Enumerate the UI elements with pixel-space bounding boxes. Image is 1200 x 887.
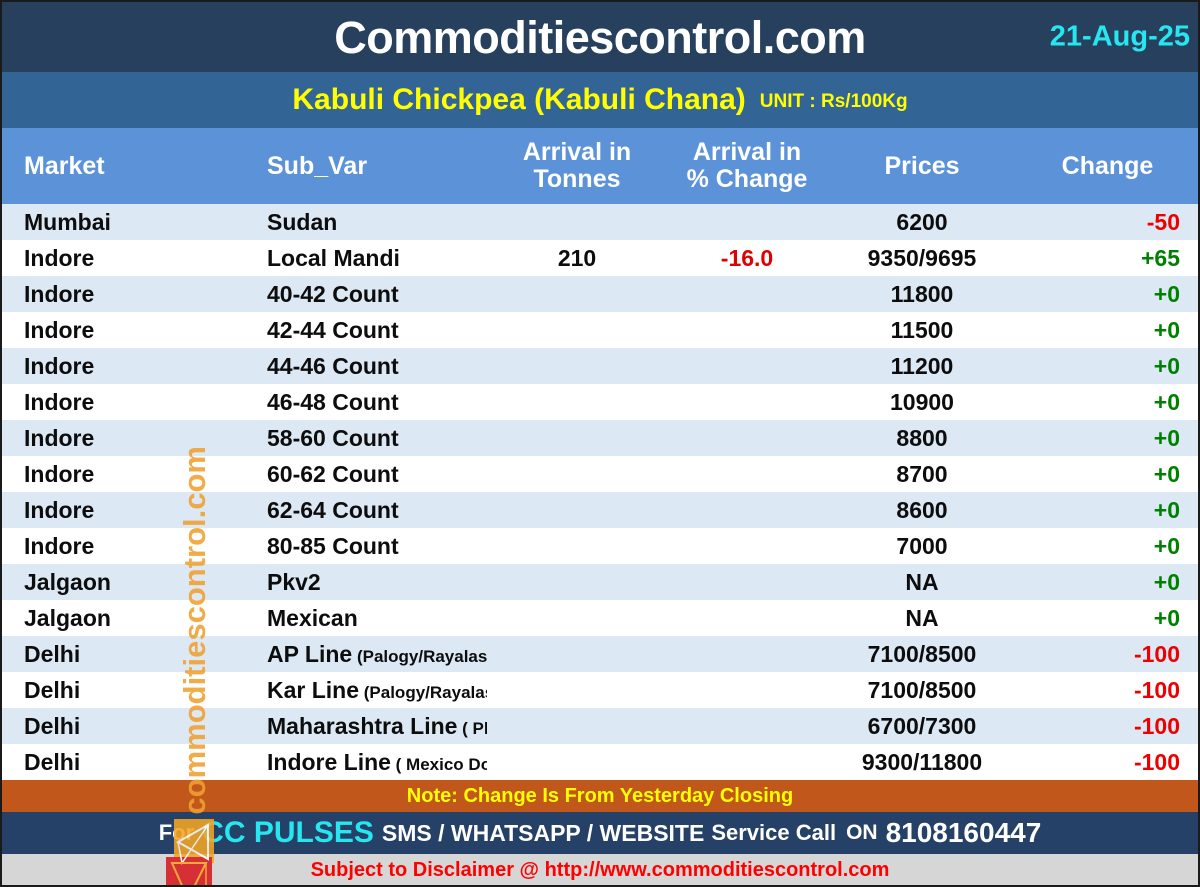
cell-change: -50 (1017, 204, 1198, 240)
cell-subvar-name: 58-60 Count (267, 425, 399, 451)
cell-arrival-pct (667, 708, 827, 744)
cell-subvar: 40-42 Count (257, 276, 487, 312)
cell-arrival-pct (667, 420, 827, 456)
cell-arrival-pct (667, 528, 827, 564)
cell-prices: 8600 (827, 492, 1017, 528)
site-title: Commoditiescontrol.com (334, 15, 866, 60)
cell-subvar-name: 44-46 Count (267, 353, 399, 379)
cell-subvar: Local Mandi (257, 240, 487, 276)
cell-change: -100 (1017, 636, 1198, 672)
cell-subvar: Indore Line ( Mexico Double Dollar ) (257, 744, 487, 780)
table-row: Indore80-85 Count7000+0 (2, 528, 1198, 564)
cell-market: Jalgaon (2, 600, 257, 636)
cell-change: -100 (1017, 744, 1198, 780)
table-row: JalgaonMexicanNA+0 (2, 600, 1198, 636)
cell-prices: NA (827, 564, 1017, 600)
cell-subvar-name: Local Mandi (267, 245, 400, 271)
cell-arrival-tonnes (487, 636, 667, 672)
cell-market: Indore (2, 528, 257, 564)
cell-subvar: Pkv2 (257, 564, 487, 600)
cell-subvar-name: 46-48 Count (267, 389, 399, 415)
cell-subvar-name: Mexican (267, 605, 358, 631)
cell-arrival-pct (667, 348, 827, 384)
cell-arrival-tonnes (487, 528, 667, 564)
title-bar: Commoditiescontrol.com 21-Aug-25 (2, 2, 1198, 72)
cell-arrival-pct (667, 636, 827, 672)
cell-subvar: 42-44 Count (257, 312, 487, 348)
col-header-arrival-line1: Arrival in (497, 139, 657, 166)
cell-subvar: Kar Line (Palogy/Rayalaseema/Cock2) (257, 672, 487, 708)
disclaimer-bar: Subject to Disclaimer @ http://www.commo… (2, 854, 1198, 886)
col-header-arrival-line2: Tonnes (497, 166, 657, 193)
cell-change: +0 (1017, 384, 1198, 420)
cell-subvar: 58-60 Count (257, 420, 487, 456)
cell-prices: 7100/8500 (827, 636, 1017, 672)
cell-market: Indore (2, 312, 257, 348)
report-page: Commoditiescontrol.com 21-Aug-25 Kabuli … (0, 0, 1200, 887)
cell-market: Indore (2, 240, 257, 276)
unit-label: UNIT : Rs/100Kg (760, 87, 908, 113)
cell-arrival-pct (667, 672, 827, 708)
cell-market: Jalgaon (2, 564, 257, 600)
cell-subvar-name: Kar Line (267, 677, 359, 703)
cell-arrival-tonnes (487, 744, 667, 780)
cell-arrival-tonnes (487, 276, 667, 312)
cell-subvar-note: ( Mexico Double Dollar ) (391, 755, 487, 774)
cell-market: Mumbai (2, 204, 257, 240)
table-row: DelhiIndore Line ( Mexico Double Dollar … (2, 744, 1198, 780)
cell-arrival-tonnes (487, 492, 667, 528)
cell-arrival-tonnes (487, 204, 667, 240)
cell-change: +0 (1017, 528, 1198, 564)
col-header-arrpct-line1: Arrival in (677, 139, 817, 166)
cell-subvar-name: Maharashtra Line (267, 713, 457, 739)
col-header-subvar: Sub_Var (257, 128, 487, 204)
note-bar: Note: Change Is From Yesterday Closing (2, 780, 1198, 812)
cell-subvar-note: (Palogy/Rayalaseema/Cock2) (352, 647, 487, 666)
cell-market: Delhi (2, 708, 257, 744)
cell-prices: 8800 (827, 420, 1017, 456)
price-table-wrap: Market Sub_Var Arrival in Tonnes Arrival… (2, 128, 1198, 780)
cell-arrival-pct (667, 312, 827, 348)
col-header-arrival-tonnes: Arrival in Tonnes (487, 128, 667, 204)
cell-arrival-tonnes (487, 420, 667, 456)
table-row: Indore46-48 Count10900+0 (2, 384, 1198, 420)
cell-arrival-tonnes (487, 564, 667, 600)
cell-prices: 9350/9695 (827, 240, 1017, 276)
cell-arrival-tonnes (487, 600, 667, 636)
cell-subvar-name: 42-44 Count (267, 317, 399, 343)
cell-arrival-tonnes (487, 672, 667, 708)
cell-change: +0 (1017, 492, 1198, 528)
contact-bar: For CC PULSES SMS / WHATSAPP / WEBSITE S… (2, 812, 1198, 854)
cell-subvar-name: Sudan (267, 209, 337, 235)
cell-prices: 10900 (827, 384, 1017, 420)
note-text: Note: Change Is From Yesterday Closing (407, 785, 793, 808)
table-body: MumbaiSudan6200-50IndoreLocal Mandi210-1… (2, 204, 1198, 780)
cell-subvar: 46-48 Count (257, 384, 487, 420)
cell-prices: 7100/8500 (827, 672, 1017, 708)
cell-subvar-name: 60-62 Count (267, 461, 399, 487)
disclaimer-text[interactable]: Subject to Disclaimer @ http://www.commo… (311, 859, 890, 882)
cell-arrival-pct (667, 564, 827, 600)
cell-change: +0 (1017, 600, 1198, 636)
price-table: Market Sub_Var Arrival in Tonnes Arrival… (2, 128, 1198, 780)
table-row: Indore58-60 Count8800+0 (2, 420, 1198, 456)
cell-arrival-tonnes (487, 348, 667, 384)
commodity-title: Kabuli Chickpea (Kabuli Chana) (292, 83, 745, 117)
cell-change: -100 (1017, 708, 1198, 744)
commodity-bar: Kabuli Chickpea (Kabuli Chana) UNIT : Rs… (2, 72, 1198, 128)
cell-arrival-tonnes (487, 384, 667, 420)
cell-arrival-tonnes (487, 312, 667, 348)
contact-channels: SMS / WHATSAPP / WEBSITE (382, 820, 704, 847)
table-row: DelhiMaharashtra Line ( Pkv2 )6700/7300-… (2, 708, 1198, 744)
cell-prices: 9300/11800 (827, 744, 1017, 780)
cell-market: Delhi (2, 672, 257, 708)
table-row: IndoreLocal Mandi210-16.09350/9695+65 (2, 240, 1198, 276)
cell-subvar: Maharashtra Line ( Pkv2 ) (257, 708, 487, 744)
cell-change: +65 (1017, 240, 1198, 276)
contact-service: Service Call (704, 820, 836, 846)
contact-on: ON (836, 821, 886, 845)
cell-prices: 7000 (827, 528, 1017, 564)
table-row: DelhiKar Line (Palogy/Rayalaseema/Cock2)… (2, 672, 1198, 708)
cell-prices: 11800 (827, 276, 1017, 312)
cell-change: +0 (1017, 312, 1198, 348)
cell-change: -100 (1017, 672, 1198, 708)
contact-phone[interactable]: 8108160447 (886, 817, 1042, 849)
col-header-prices: Prices (827, 128, 1017, 204)
cell-market: Delhi (2, 636, 257, 672)
cell-market: Indore (2, 384, 257, 420)
cell-arrival-tonnes: 210 (487, 240, 667, 276)
cell-subvar: Mexican (257, 600, 487, 636)
cell-market: Delhi (2, 744, 257, 780)
table-row: Indore44-46 Count11200+0 (2, 348, 1198, 384)
cell-arrival-pct (667, 456, 827, 492)
report-date: 21-Aug-25 (1050, 21, 1190, 54)
cell-change: +0 (1017, 564, 1198, 600)
cell-change: +0 (1017, 276, 1198, 312)
cell-arrival-tonnes (487, 708, 667, 744)
table-header-row: Market Sub_Var Arrival in Tonnes Arrival… (2, 128, 1198, 204)
col-header-change: Change (1017, 128, 1198, 204)
cell-subvar: 60-62 Count (257, 456, 487, 492)
cell-market: Indore (2, 456, 257, 492)
cell-subvar-note: ( Pkv2 ) (457, 719, 487, 738)
cell-market: Indore (2, 420, 257, 456)
table-head: Market Sub_Var Arrival in Tonnes Arrival… (2, 128, 1198, 204)
cell-arrival-pct: -16.0 (667, 240, 827, 276)
cell-change: +0 (1017, 348, 1198, 384)
cell-subvar-name: Pkv2 (267, 569, 321, 595)
cell-prices: 11500 (827, 312, 1017, 348)
cell-subvar-name: 62-64 Count (267, 497, 399, 523)
cell-prices: 6200 (827, 204, 1017, 240)
cell-subvar: AP Line (Palogy/Rayalaseema/Cock2) (257, 636, 487, 672)
cell-subvar: Sudan (257, 204, 487, 240)
cell-subvar-name: AP Line (267, 641, 352, 667)
cell-change: +0 (1017, 456, 1198, 492)
table-row: MumbaiSudan6200-50 (2, 204, 1198, 240)
cell-change: +0 (1017, 420, 1198, 456)
col-header-arrpct-line2: % Change (677, 166, 817, 193)
cell-subvar: 80-85 Count (257, 528, 487, 564)
cell-arrival-tonnes (487, 456, 667, 492)
contact-brand: CC PULSES (194, 816, 382, 850)
cell-arrival-pct (667, 276, 827, 312)
cell-arrival-pct (667, 384, 827, 420)
cell-subvar: 62-64 Count (257, 492, 487, 528)
cell-market: Indore (2, 348, 257, 384)
cell-subvar-name: 80-85 Count (267, 533, 399, 559)
contact-for: For (159, 820, 194, 846)
table-row: JalgaonPkv2NA+0 (2, 564, 1198, 600)
table-row: Indore40-42 Count11800+0 (2, 276, 1198, 312)
cell-prices: 11200 (827, 348, 1017, 384)
cell-arrival-pct (667, 600, 827, 636)
cell-arrival-pct (667, 204, 827, 240)
table-row: Indore60-62 Count8700+0 (2, 456, 1198, 492)
cell-subvar: 44-46 Count (257, 348, 487, 384)
cell-arrival-pct (667, 744, 827, 780)
cell-market: Indore (2, 276, 257, 312)
col-header-arrival-pct: Arrival in % Change (667, 128, 827, 204)
cell-arrival-pct (667, 492, 827, 528)
cell-subvar-name: 40-42 Count (267, 281, 399, 307)
cell-market: Indore (2, 492, 257, 528)
cell-prices: 6700/7300 (827, 708, 1017, 744)
table-row: Indore42-44 Count11500+0 (2, 312, 1198, 348)
cell-prices: NA (827, 600, 1017, 636)
table-row: Indore62-64 Count8600+0 (2, 492, 1198, 528)
cell-prices: 8700 (827, 456, 1017, 492)
cell-subvar-name: Indore Line (267, 749, 391, 775)
col-header-market: Market (2, 128, 257, 204)
cell-subvar-note: (Palogy/Rayalaseema/Cock2) (359, 683, 487, 702)
table-row: DelhiAP Line (Palogy/Rayalaseema/Cock2)7… (2, 636, 1198, 672)
